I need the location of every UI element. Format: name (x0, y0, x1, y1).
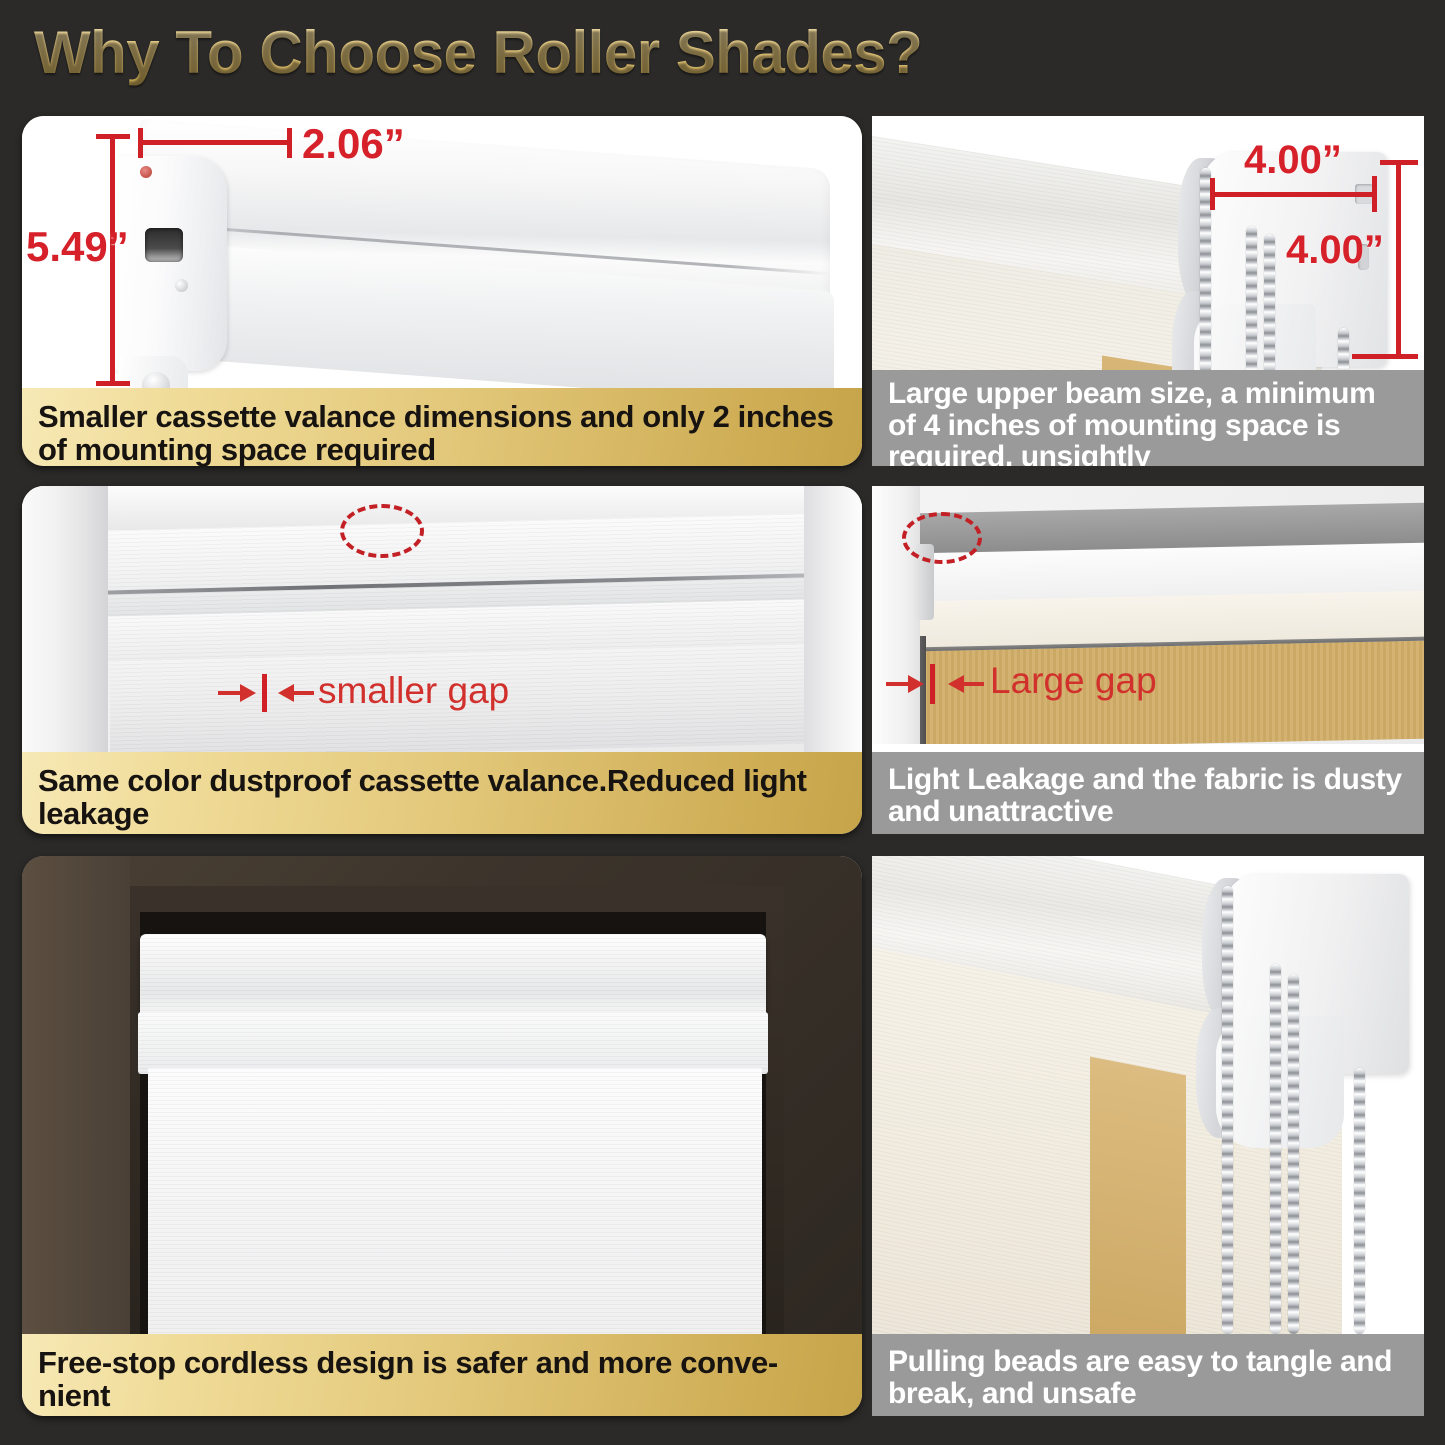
cassette-headrail (140, 934, 766, 1018)
infographic-page: Why To Choose Roller Shades? 2.06” (0, 0, 1445, 1445)
wall-left (22, 856, 130, 1334)
page-title: Why To Choose Roller Shades? (34, 18, 922, 87)
width-tick-right (287, 128, 292, 158)
window-frame-right (804, 486, 862, 752)
panel-photo: Large gap (872, 486, 1424, 744)
red-screw-icon (140, 166, 152, 178)
panel-large-upper-beam: 4.00” 4.00” Large upper beam size, a min… (872, 116, 1424, 466)
valance-end-cap (115, 156, 227, 371)
highlight-ellipse-icon (340, 504, 424, 558)
panel-pulling-beads: Pulling beads are easy to tangle and bre… (872, 856, 1424, 1416)
width-dimension-label: 4.00” (1244, 138, 1342, 183)
height-dimension-line (1396, 162, 1401, 358)
panel-smaller-cassette: 2.06” 5.49” Smaller cassette valance dim… (22, 116, 862, 466)
panel-photo: 4.00” 4.00” (872, 116, 1424, 374)
width-dimension-line (1212, 192, 1376, 197)
panel-caption-text: Large upper beam size, a minimum of 4 in… (888, 378, 1410, 466)
width-tick-left (1210, 178, 1215, 210)
gap-arrow-stem-left (886, 682, 908, 686)
panel-photo: 2.06” 5.49” (22, 116, 862, 388)
panel-caption: Light Leakage and the fabric is dusty an… (872, 752, 1424, 834)
gap-callout-label: smaller gap (318, 670, 509, 712)
panel-dustproof-valance: smaller gap Same color dustproof cassett… (22, 486, 862, 834)
panel-photo (872, 856, 1424, 1334)
gap-callout-label: Large gap (990, 660, 1157, 702)
gap-arrow-left-icon (278, 684, 294, 702)
panel-caption-text: Light Leakage and the fabric is dusty an… (888, 764, 1410, 827)
width-dimension-line (140, 140, 290, 145)
gap-arrow-left-icon (948, 675, 964, 693)
panel-caption-text: Free-stop cordless design is safer and m… (38, 1346, 848, 1413)
height-dimension-label: 4.00” (1286, 228, 1384, 273)
gap-arrow-right-icon (240, 684, 256, 702)
height-tick-top (96, 134, 130, 139)
gap-marker (262, 674, 267, 712)
window-frame-left (22, 486, 108, 752)
panel-cordless-design: Free-stop cordless design is safer and m… (22, 856, 862, 1416)
height-tick-top (1380, 160, 1418, 165)
panel-caption-text: Same color dustproof cassette valance.Re… (38, 764, 848, 831)
bead-chain[interactable] (1222, 886, 1233, 1334)
gap-arrow-stem-right (964, 682, 984, 686)
width-tick-right (1372, 176, 1377, 212)
gap-arrow-stem-right (294, 691, 314, 695)
bead-chain[interactable] (1354, 1068, 1365, 1334)
tan-fabric-panel (1090, 1057, 1186, 1334)
cassette-valance (104, 513, 810, 616)
height-tick-bottom (96, 381, 130, 386)
panel-caption: Free-stop cordless design is safer and m… (22, 1334, 862, 1416)
bead-chain[interactable] (1288, 974, 1299, 1334)
screw-icon (142, 372, 170, 388)
panel-caption: Pulling beads are easy to tangle and bre… (872, 1334, 1424, 1416)
bead-chain (1264, 234, 1275, 374)
highlight-ellipse-icon (902, 512, 982, 564)
gap-marker (930, 664, 935, 704)
panel-photo (22, 856, 862, 1334)
width-tick-left (138, 128, 143, 158)
bracket-slot (145, 228, 183, 262)
headrail-lower (138, 1012, 768, 1074)
panel-caption: Smaller cassette valance dimensions and … (22, 388, 862, 466)
panel-caption: Large upper beam size, a minimum of 4 in… (872, 370, 1424, 466)
panel-caption-text: Smaller cassette valance dimensions and … (38, 400, 848, 466)
bead-chain (1338, 328, 1349, 374)
panel-photo: smaller gap (22, 486, 862, 752)
bead-chain[interactable] (1270, 964, 1281, 1334)
bead-chain (1246, 226, 1257, 374)
height-dimension-label: 5.49” (26, 223, 129, 271)
gap-arrow-right-icon (908, 675, 924, 693)
gap-arrow-stem-left (218, 691, 240, 695)
panel-caption-text: Pulling beads are easy to tangle and bre… (888, 1346, 1410, 1409)
width-dimension-label: 2.06” (302, 120, 405, 168)
height-tick-bottom (1352, 354, 1418, 359)
panel-light-leakage: Large gap Light Leakage and the fabric i… (872, 486, 1424, 834)
screw-icon (175, 279, 188, 292)
shade-fabric (148, 1068, 762, 1334)
panel-caption: Same color dustproof cassette valance.Re… (22, 752, 862, 834)
